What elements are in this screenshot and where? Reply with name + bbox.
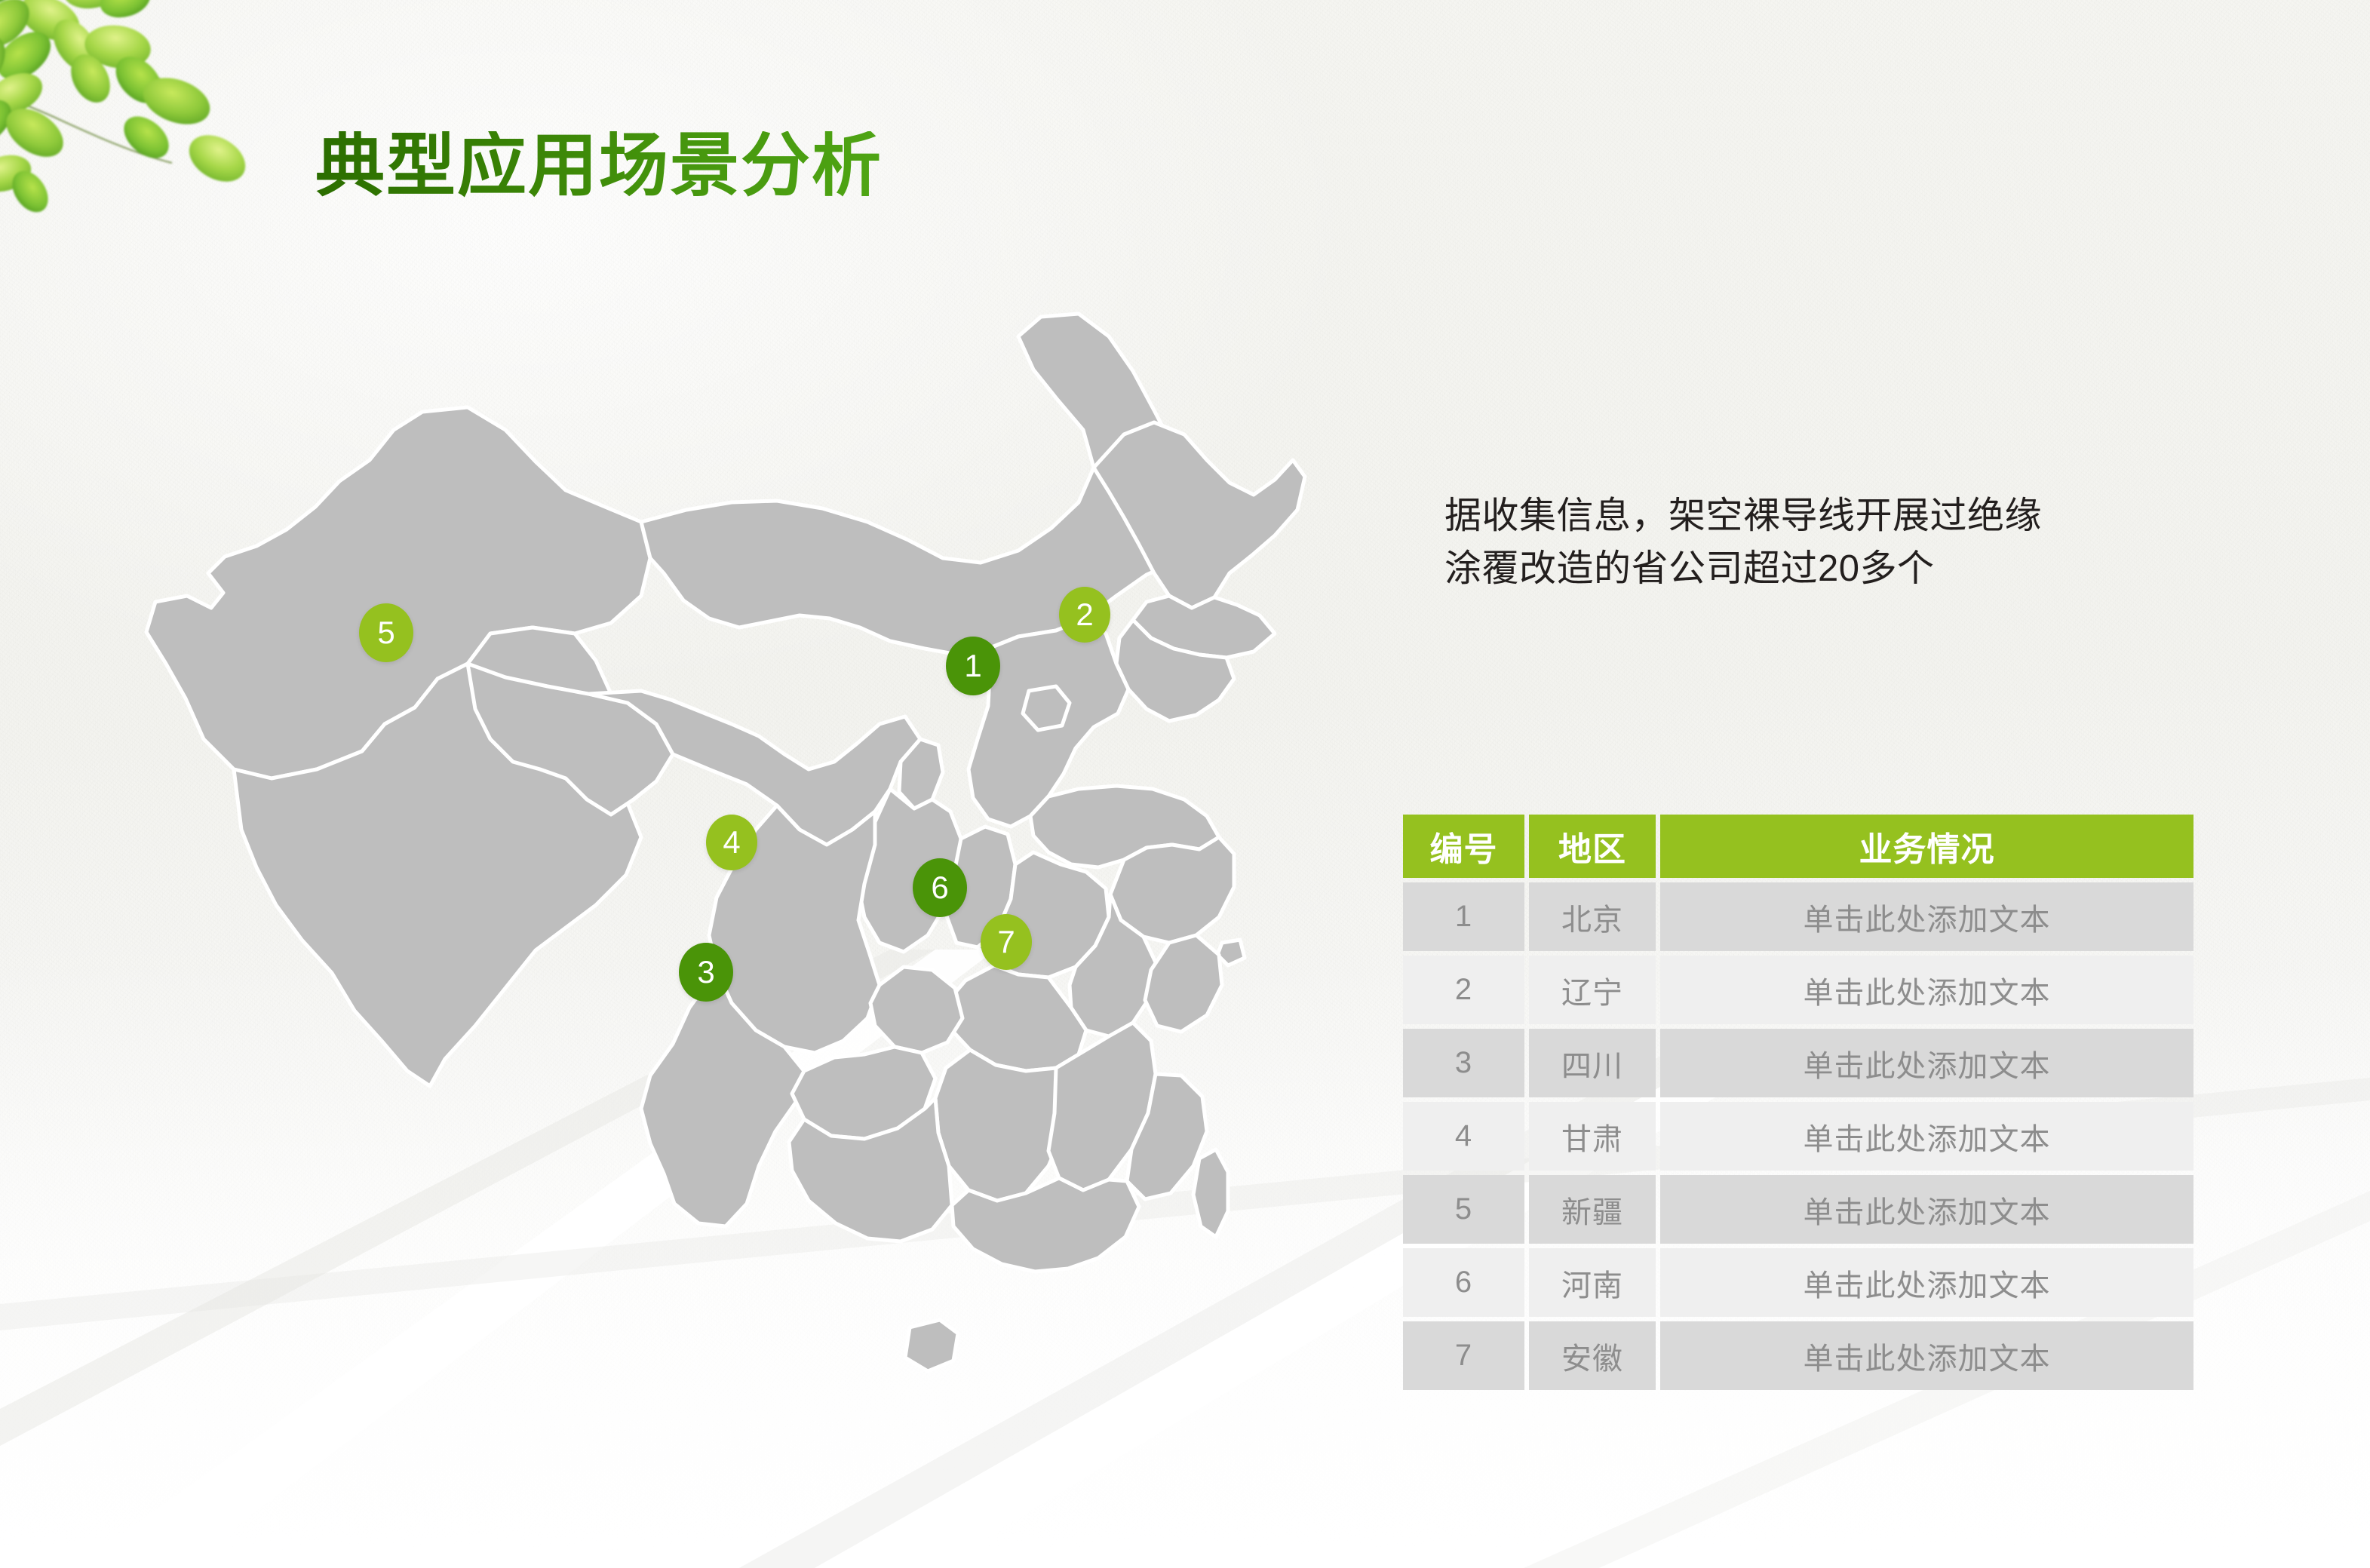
map-marker-3[interactable]: 3 (679, 943, 733, 1002)
map-marker-2-label: 2 (1076, 599, 1093, 631)
china-map: 1 2 3 4 5 6 7 (113, 241, 1395, 1508)
cell-region: 河南 (1529, 1248, 1656, 1317)
table-row[interactable]: 2 辽宁 单击此处添加文本 (1403, 956, 2193, 1024)
page-title: 典型应用场景分析 (315, 131, 883, 201)
cell-business[interactable]: 单击此处添加文本 (1660, 1029, 2193, 1097)
table-row[interactable]: 4 甘肃 单击此处添加文本 (1403, 1102, 2193, 1171)
cell-business[interactable]: 单击此处添加文本 (1660, 882, 2193, 951)
cell-business[interactable]: 单击此处添加文本 (1660, 1175, 2193, 1244)
table-row[interactable]: 5 新疆 单击此处添加文本 (1403, 1175, 2193, 1244)
table-row[interactable]: 1 北京 单击此处添加文本 (1403, 882, 2193, 951)
cell-region: 四川 (1529, 1029, 1656, 1097)
map-marker-5-label: 5 (377, 617, 394, 649)
column-header-business: 业务情况 (1660, 815, 2193, 878)
map-marker-6[interactable]: 6 (913, 858, 967, 917)
cell-no: 1 (1403, 882, 1524, 951)
cell-no: 5 (1403, 1175, 1524, 1244)
table-header-row: 编号 地区 业务情况 (1403, 815, 2193, 878)
map-marker-4-label: 4 (723, 827, 740, 858)
cell-region: 北京 (1529, 882, 1656, 951)
map-marker-4[interactable]: 4 (706, 815, 757, 870)
cell-business[interactable]: 单击此处添加文本 (1660, 1321, 2193, 1390)
summary-note-line2: 涂覆改造的省公司超过20多个 (1444, 543, 2214, 596)
china-map-svg (113, 241, 1395, 1508)
cell-no: 6 (1403, 1248, 1524, 1317)
slide-canvas: 典型应用场景分析 (0, 0, 2370, 1568)
column-header-no: 编号 (1403, 815, 1524, 878)
region-business-table: 编号 地区 业务情况 1 北京 单击此处添加文本 2 辽宁 单击此处添加文本 3… (1403, 815, 2193, 1390)
cell-region: 安徽 (1529, 1321, 1656, 1390)
cell-business[interactable]: 单击此处添加文本 (1660, 1102, 2193, 1171)
table-row[interactable]: 3 四川 单击此处添加文本 (1403, 1029, 2193, 1097)
cell-region: 新疆 (1529, 1175, 1656, 1244)
cell-business[interactable]: 单击此处添加文本 (1660, 956, 2193, 1024)
leaf-decoration (0, 0, 279, 222)
map-marker-5[interactable]: 5 (359, 603, 413, 662)
summary-note-line1: 据收集信息，架空裸导线开展过绝缘 (1444, 490, 2214, 543)
column-header-region: 地区 (1529, 815, 1656, 878)
cell-no: 4 (1403, 1102, 1524, 1171)
map-marker-7-label: 7 (997, 926, 1015, 958)
map-marker-7[interactable]: 7 (981, 914, 1032, 970)
summary-note: 据收集信息，架空裸导线开展过绝缘 涂覆改造的省公司超过20多个 (1444, 490, 2214, 595)
cell-no: 2 (1403, 956, 1524, 1024)
map-marker-2[interactable]: 2 (1059, 587, 1110, 643)
cell-no: 7 (1403, 1321, 1524, 1390)
map-marker-6-label: 6 (931, 872, 948, 904)
map-marker-1[interactable]: 1 (946, 637, 1000, 695)
cell-no: 3 (1403, 1029, 1524, 1097)
cell-business[interactable]: 单击此处添加文本 (1660, 1248, 2193, 1317)
map-marker-3-label: 3 (697, 956, 714, 988)
table-row[interactable]: 7 安徽 单击此处添加文本 (1403, 1321, 2193, 1390)
map-marker-1-label: 1 (964, 650, 981, 682)
cell-region: 甘肃 (1529, 1102, 1656, 1171)
table-row[interactable]: 6 河南 单击此处添加文本 (1403, 1248, 2193, 1317)
cell-region: 辽宁 (1529, 956, 1656, 1024)
